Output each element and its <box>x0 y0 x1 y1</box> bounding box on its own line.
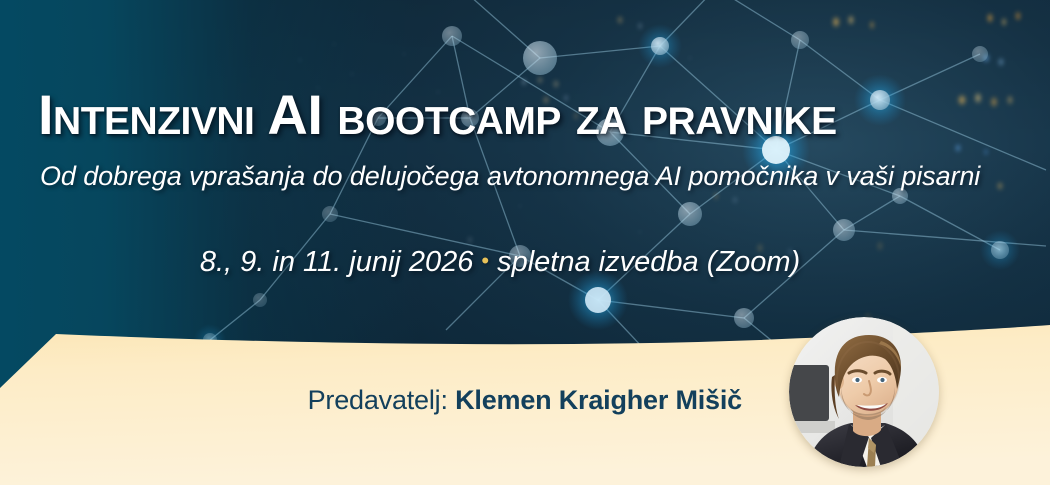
event-delivery-mode: spletna izvedba (Zoom) <box>497 246 800 278</box>
presenter-label: Predavatelj: <box>308 385 448 415</box>
banner-title: Intenzivni AI bootcamp za pravnike <box>38 86 837 144</box>
event-date: 8., 9. in 11. junij 2026 <box>200 246 474 278</box>
bullet-separator-icon: • <box>473 248 497 273</box>
event-promo-banner: Intenzivni AI bootcamp za pravnike Od do… <box>0 0 1050 485</box>
presenter-photo <box>789 317 939 467</box>
presenter-name: Klemen Kraigher Mišič <box>455 385 742 415</box>
banner-subtitle: Od dobrega vprašanja do delujočega avton… <box>40 160 980 192</box>
event-dateline: 8., 9. in 11. junij 2026•spletna izvedba… <box>0 243 1000 280</box>
